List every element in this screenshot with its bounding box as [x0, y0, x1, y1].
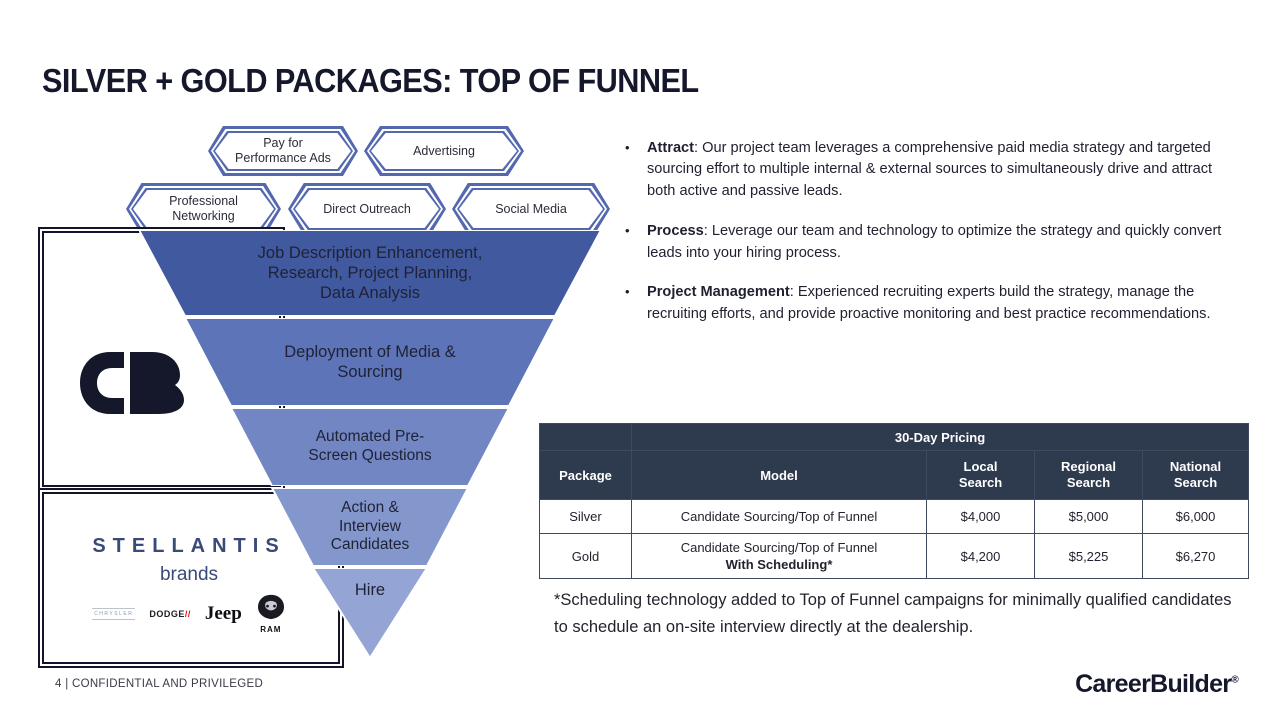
source-chip-advertising[interactable]: Advertising [364, 126, 524, 176]
funnel-band-2[interactable]: Deployment of Media & Sourcing [139, 318, 601, 406]
bullet-body: : Leverage our team and technology to op… [647, 223, 1221, 260]
bullet-item-process: • Process: Leverage our team and technol… [625, 221, 1225, 264]
cell-package-gold: Gold [540, 534, 632, 579]
col-header-national-search: National Search [1143, 451, 1249, 500]
hex-label-wrap-3: Professional Networking [133, 190, 274, 228]
funnel-band-label: Hire [333, 580, 407, 600]
source-chip-label: Professional Networking [169, 194, 238, 224]
hex-label-wrap-1: Pay for Performance Ads [215, 133, 351, 169]
source-chip-label: Advertising [413, 144, 475, 159]
source-chip-social-media[interactable]: Social Media [452, 183, 610, 235]
bullet-dot-icon: • [625, 282, 647, 325]
cell-local-silver: $4,000 [927, 500, 1035, 534]
col-header-package: Package [540, 451, 632, 500]
col-header-local-search: Local Search [927, 451, 1035, 500]
source-chip-direct-outreach[interactable]: Direct Outreach [288, 183, 446, 235]
hex-label-wrap-4: Direct Outreach [295, 190, 439, 228]
source-chip-professional-networking[interactable]: Professional Networking [126, 183, 281, 235]
funnel-band-3[interactable]: Automated Pre- Screen Questions [139, 408, 601, 486]
bullet-text: Attract: Our project team leverages a co… [647, 138, 1225, 202]
funnel-band-label: Action & Interview Candidates [309, 499, 431, 556]
cell-model-gold-line2: With Scheduling* [726, 557, 833, 572]
cell-model-gold: Candidate Sourcing/Top of Funnel With Sc… [632, 534, 927, 579]
page-title: SILVER + GOLD PACKAGES: TOP OF FUNNEL [42, 62, 879, 100]
source-chip-label: Social Media [495, 202, 567, 217]
col-header-model: Model [632, 451, 927, 500]
source-chip-pay-for-performance-ads[interactable]: Pay for Performance Ads [208, 126, 358, 176]
bullet-body: : Our project team leverages a comprehen… [647, 140, 1212, 199]
bullet-lead: Process [647, 223, 704, 239]
funnel-band-label: Automated Pre- Screen Questions [286, 428, 453, 466]
chrysler-logo-icon: CHRYSLER [92, 608, 135, 620]
table-row: Silver Candidate Sourcing/Top of Funnel … [540, 500, 1249, 534]
funnel-band-1[interactable]: Job Description Enhancement, Research, P… [139, 230, 601, 316]
funnel-diagram: Job Description Enhancement, Research, P… [139, 230, 601, 660]
registered-trademark-icon: ® [1231, 675, 1238, 686]
hex-label-wrap-5: Social Media [459, 190, 603, 228]
cell-regional-silver: $5,000 [1035, 500, 1143, 534]
cell-local-gold: $4,200 [927, 534, 1035, 579]
bullet-text: Process: Leverage our team and technolog… [647, 221, 1225, 264]
table-group-header-30-day-pricing: 30-Day Pricing [632, 424, 1249, 451]
slide-canvas: SILVER + GOLD PACKAGES: TOP OF FUNNEL Pa… [0, 0, 1280, 720]
hex-label-wrap-2: Advertising [371, 133, 517, 169]
table-row: Gold Candidate Sourcing/Top of Funnel Wi… [540, 534, 1249, 579]
table-row-group-header: 30-Day Pricing [540, 424, 1249, 451]
pricing-footnote: *Scheduling technology added to Top of F… [554, 587, 1244, 640]
careerbuilder-wordmark-text: CareerBuilder [1075, 670, 1231, 698]
col-header-regional-search: Regional Search [1035, 451, 1143, 500]
bullet-dot-icon: • [625, 138, 647, 202]
careerbuilder-wordmark: CareerBuilder® [1075, 670, 1238, 699]
funnel-band-5[interactable]: Hire [139, 568, 601, 658]
table-header-row: Package Model Local Search Regional Sear… [540, 451, 1249, 500]
table-corner-blank [540, 424, 632, 451]
bullet-lead: Attract [647, 140, 694, 156]
funnel-band-4[interactable]: Action & Interview Candidates [139, 488, 601, 566]
bullet-dot-icon: • [625, 221, 647, 264]
bullet-list: • Attract: Our project team leverages a … [625, 138, 1225, 342]
funnel-band-label: Job Description Enhancement, Research, P… [236, 243, 505, 303]
source-chip-label: Pay for Performance Ads [235, 136, 331, 166]
cell-model-gold-line1: Candidate Sourcing/Top of Funnel [681, 540, 878, 555]
cell-national-silver: $6,000 [1143, 500, 1249, 534]
bullet-text: Project Management: Experienced recruiti… [647, 282, 1225, 325]
funnel-band-label: Deployment of Media & Sourcing [262, 342, 478, 382]
cell-regional-gold: $5,225 [1035, 534, 1143, 579]
pricing-table: 30-Day Pricing Package Model Local Searc… [539, 423, 1249, 579]
cell-national-gold: $6,270 [1143, 534, 1249, 579]
bullet-item-attract: • Attract: Our project team leverages a … [625, 138, 1225, 202]
bullet-item-project-management: • Project Management: Experienced recrui… [625, 282, 1225, 325]
source-chip-label: Direct Outreach [323, 202, 411, 217]
cell-model-silver: Candidate Sourcing/Top of Funnel [632, 500, 927, 534]
footer-confidentiality-notice: 4 | CONFIDENTIAL AND PRIVILEGED [55, 678, 263, 690]
cell-package-silver: Silver [540, 500, 632, 534]
bullet-lead: Project Management [647, 284, 790, 300]
